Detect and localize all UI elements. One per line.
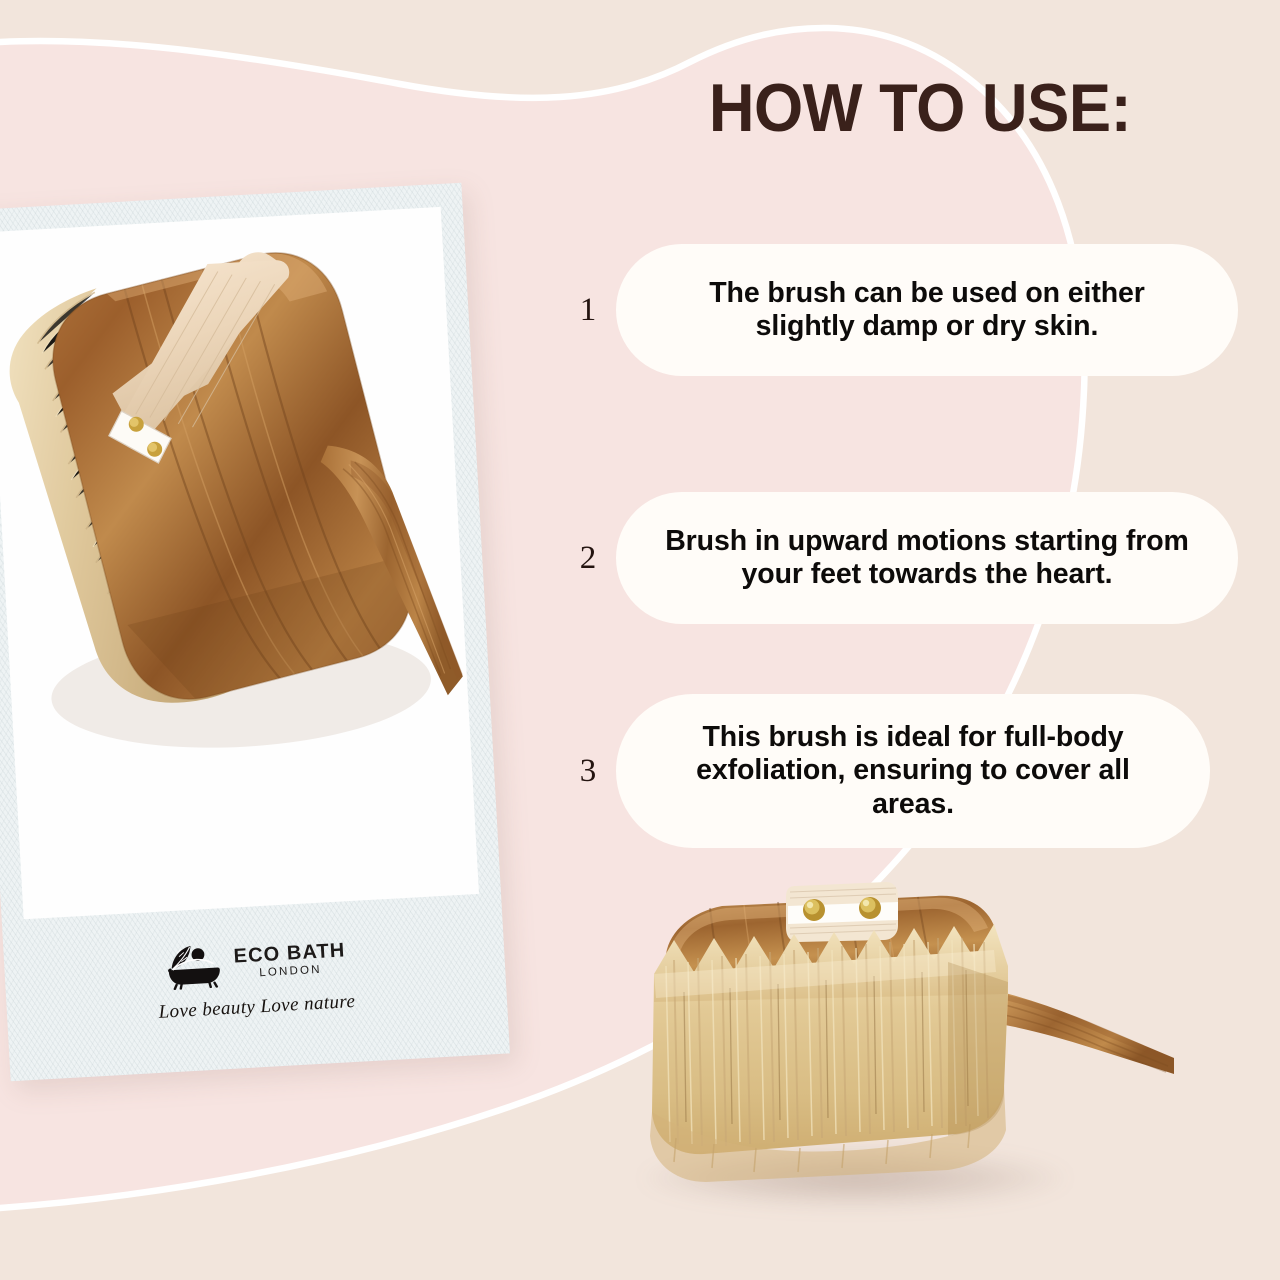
bathtub-leaf-icon [162,941,226,990]
page-title: HOW TO USE: [622,74,1217,142]
step-text: This brush is ideal for full-body exfoli… [656,721,1170,821]
brand-name: ECO BATH [233,940,346,966]
step-item-1: 1 The brush can be used on either slight… [560,244,1238,376]
hanging-strap-detail [786,882,898,942]
infographic-canvas: ECO BATH LONDON Love beauty Love nature … [0,0,1280,1280]
product-photo-main [0,207,479,919]
step-text: Brush in upward motions starting from yo… [656,525,1198,592]
step-number: 3 [560,753,616,790]
step-item-3: 3 This brush is ideal for full-body exfo… [560,694,1210,848]
step-text: The brush can be used on either slightly… [656,277,1198,344]
step-card: This brush is ideal for full-body exfoli… [616,694,1210,848]
step-number: 2 [560,540,616,577]
polaroid-frame: ECO BATH LONDON Love beauty Love nature [0,183,510,1082]
step-number: 1 [560,292,616,329]
bristles-detail [650,924,1008,1182]
product-photo-detail [618,862,1178,1192]
step-card: The brush can be used on either slightly… [616,244,1238,376]
step-item-2: 2 Brush in upward motions starting from … [560,492,1238,624]
step-card: Brush in upward motions starting from yo… [616,492,1238,624]
dry-brush-illustration [0,207,479,919]
